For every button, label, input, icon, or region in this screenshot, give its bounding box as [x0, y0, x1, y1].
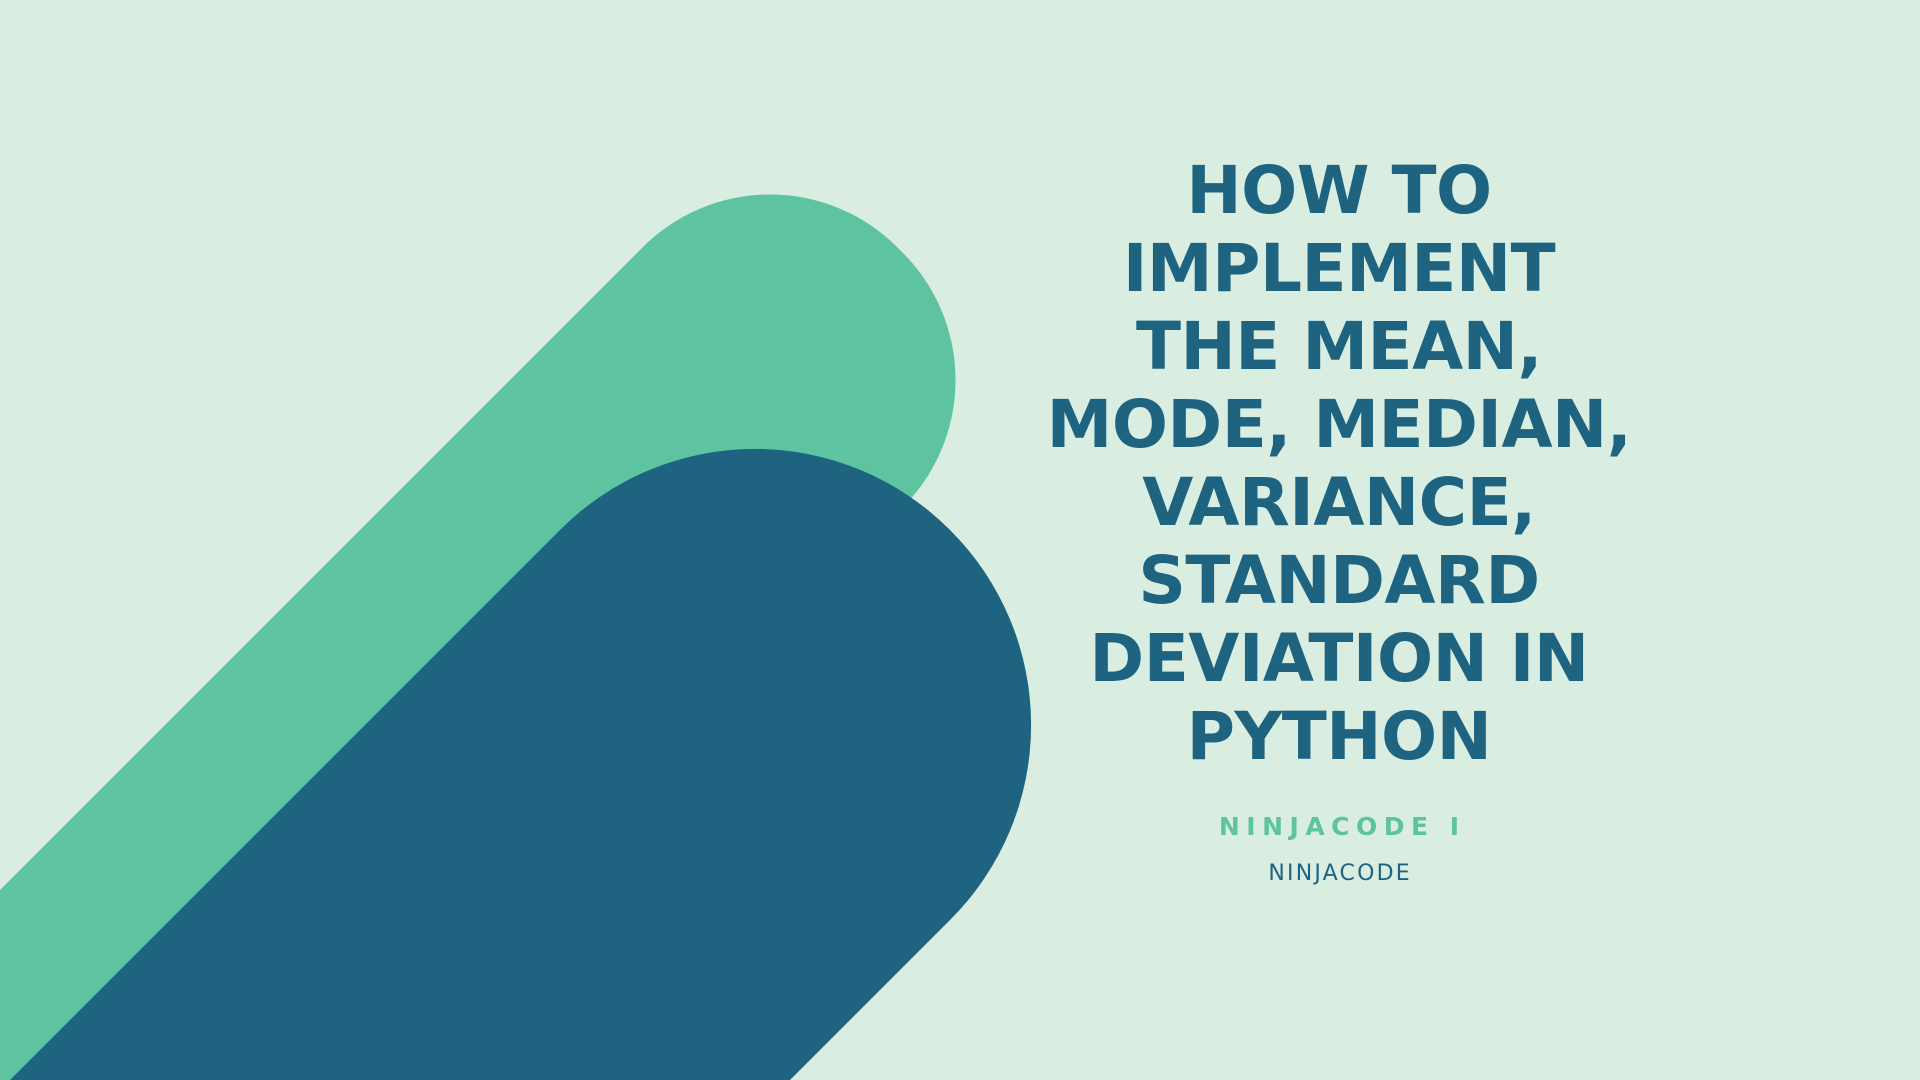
title-line: DEVIATION IN [1008, 620, 1670, 698]
title-line: THE MEAN, [1008, 308, 1670, 386]
title-line: HOW TO [1008, 152, 1670, 230]
title-line: MODE, MEDIAN, [1008, 386, 1670, 464]
title-line: PYTHON [1008, 698, 1670, 776]
cover-canvas: HOW TO IMPLEMENT THE MEAN, MODE, MEDIAN,… [0, 0, 1920, 1080]
title-line: IMPLEMENT [1008, 230, 1670, 308]
text-column: HOW TO IMPLEMENT THE MEAN, MODE, MEDIAN,… [1008, 0, 1670, 1080]
brand-label: NINJACODE [1266, 861, 1412, 886]
title-line: VARIANCE, [1008, 464, 1670, 542]
byline-label: NINJACODE I [1212, 812, 1465, 841]
page-title: HOW TO IMPLEMENT THE MEAN, MODE, MEDIAN,… [1008, 152, 1670, 776]
title-line: STANDARD [1008, 542, 1670, 620]
